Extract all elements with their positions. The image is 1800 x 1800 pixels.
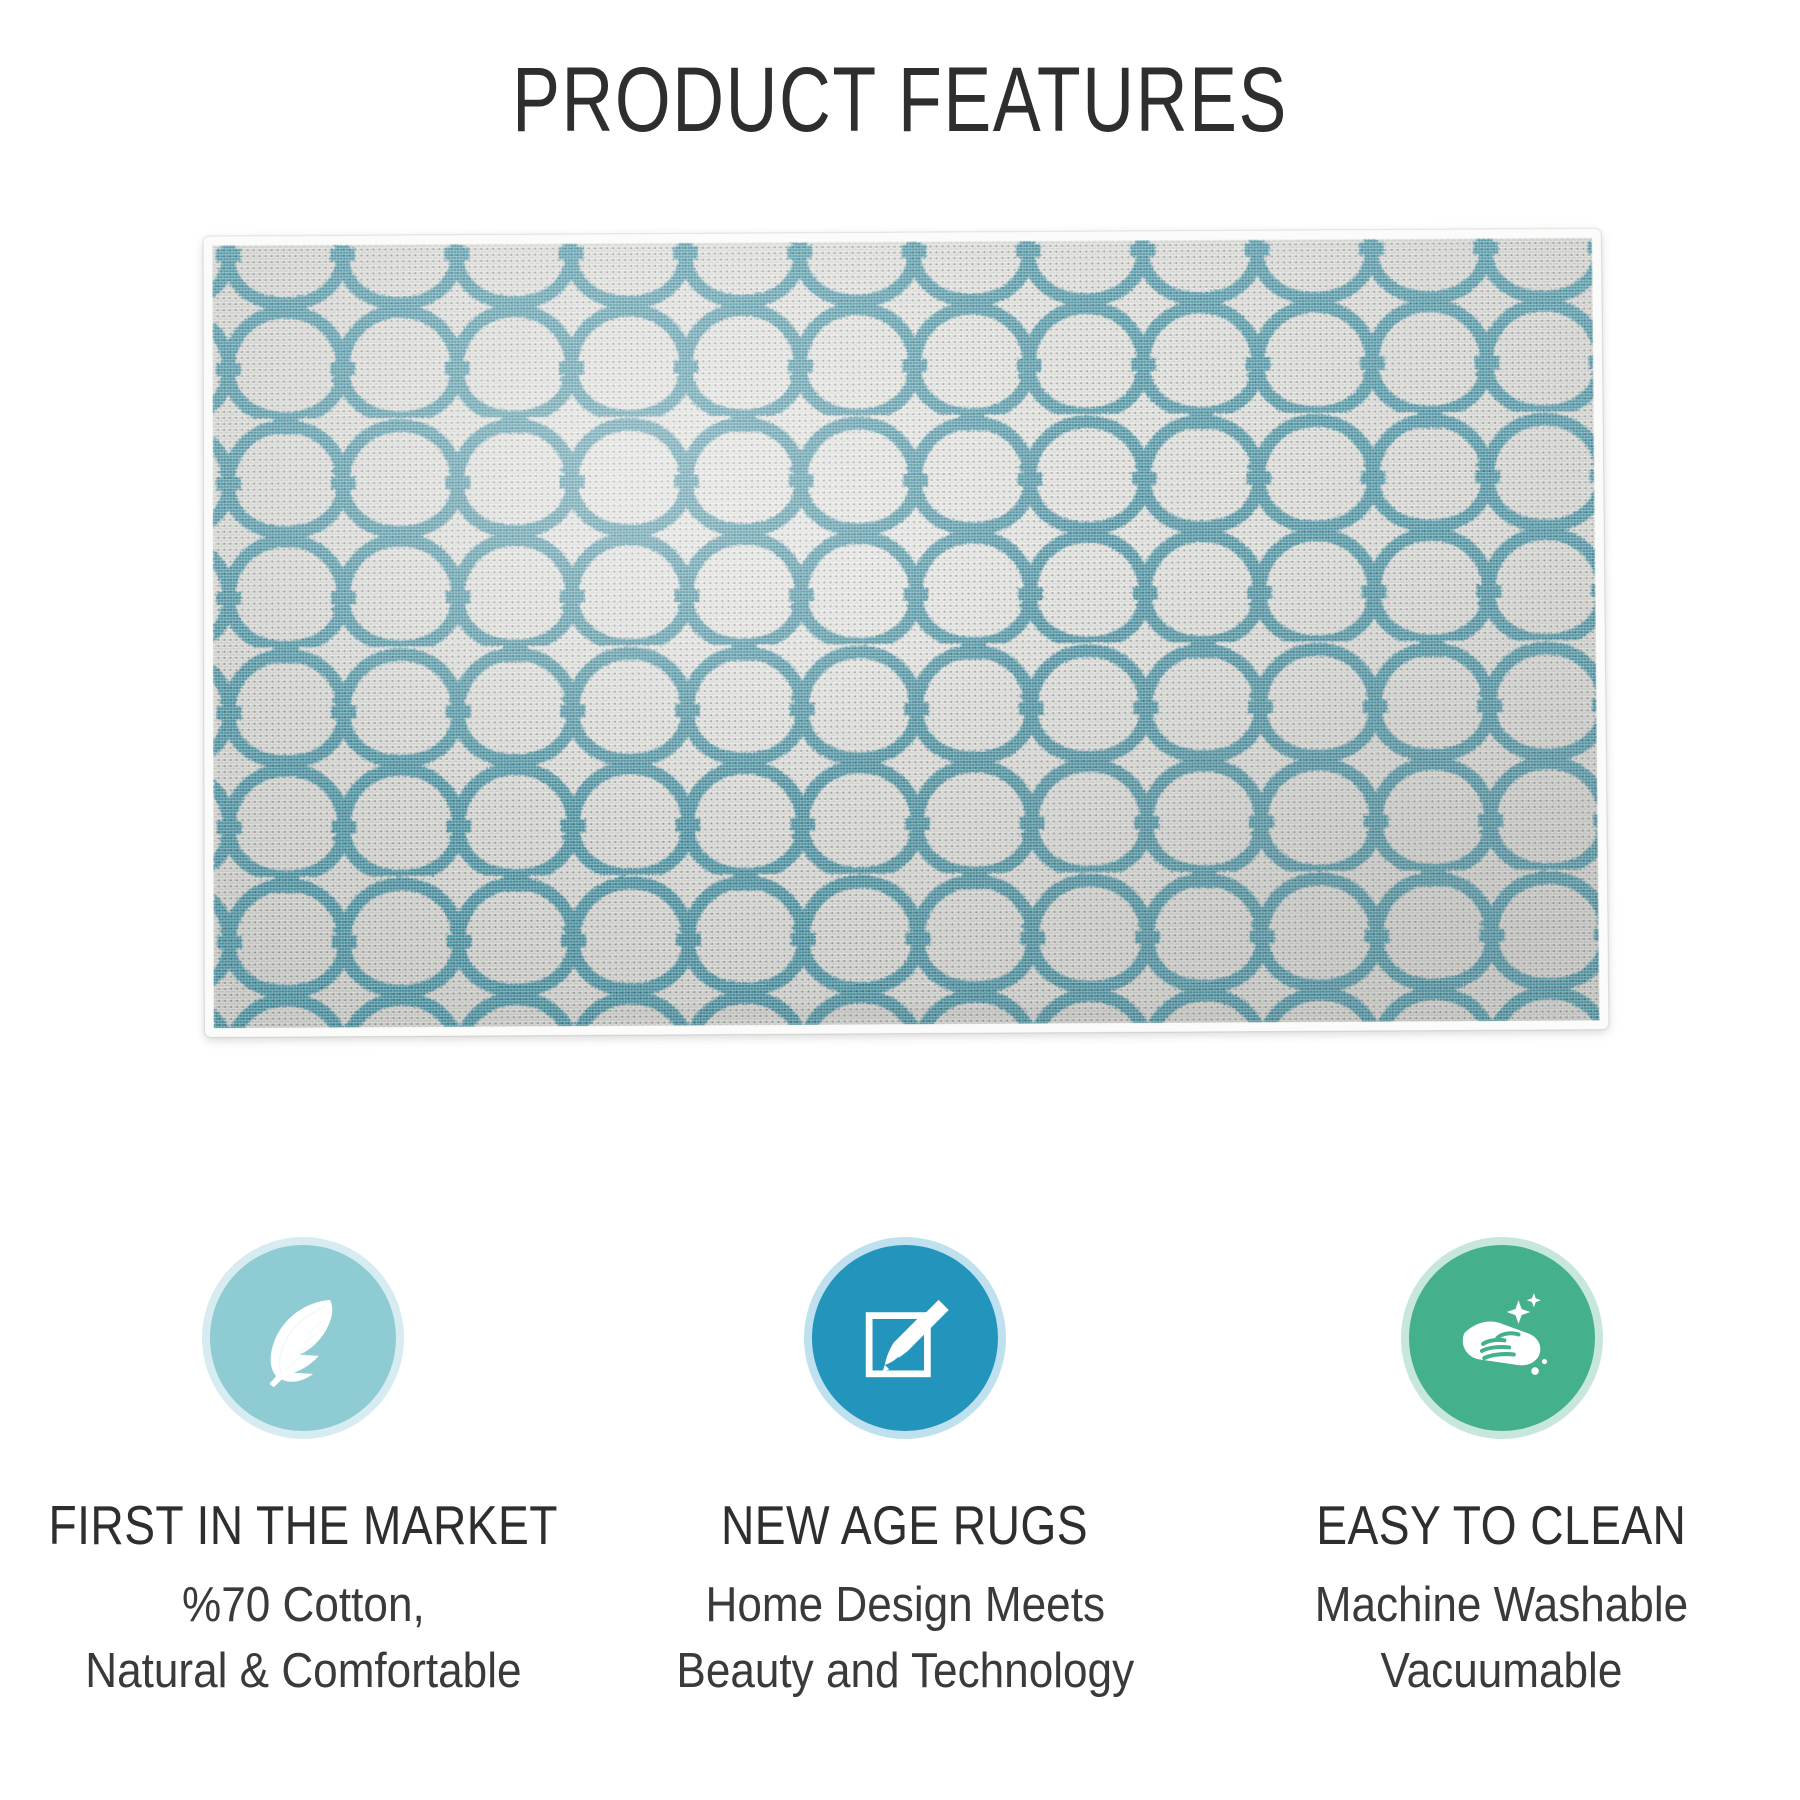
feature-title: NEW AGE RUGS xyxy=(721,1493,1088,1557)
feature-description: %70 Cotton, Natural & Comfortable xyxy=(61,1573,546,1704)
feature-line: Machine Washable xyxy=(1315,1573,1688,1639)
features-row: FIRST IN THE MARKET %70 Cotton, Natural … xyxy=(0,1245,1800,1704)
feature-description: Home Design Meets Beauty and Technology xyxy=(651,1573,1160,1704)
rug-drop-shadow xyxy=(232,1010,1576,1036)
hand-wipe-sparkle-icon xyxy=(1409,1245,1595,1431)
feature-title: FIRST IN THE MARKET xyxy=(49,1493,558,1557)
feather-icon xyxy=(210,1245,396,1431)
feature-title: EASY TO CLEAN xyxy=(1317,1493,1687,1557)
product-features-infographic: PRODUCT FEATURES xyxy=(0,0,1800,1800)
rug-surface xyxy=(212,238,1599,1028)
feature-line: %70 Cotton, xyxy=(85,1573,521,1639)
feature-line: Beauty and Technology xyxy=(676,1639,1134,1705)
feature-new-age-rugs: NEW AGE RUGS Home Design Meets Beauty an… xyxy=(606,1245,1203,1704)
feature-description: Machine Washable Vacuumable xyxy=(1294,1573,1709,1704)
feature-line: Natural & Comfortable xyxy=(85,1639,521,1705)
feature-line: Home Design Meets xyxy=(676,1573,1134,1639)
page-title: PRODUCT FEATURES xyxy=(198,48,1602,153)
feature-line: Vacuumable xyxy=(1315,1639,1688,1705)
product-image-container xyxy=(203,229,1608,1037)
feature-first-in-the-market: FIRST IN THE MARKET %70 Cotton, Natural … xyxy=(0,1245,606,1704)
rug-photo xyxy=(203,229,1608,1037)
feature-easy-to-clean: EASY TO CLEAN Machine Washable Vacuumabl… xyxy=(1203,1245,1800,1704)
design-pen-brush-icon xyxy=(812,1245,998,1431)
rug-pattern-lattice xyxy=(212,238,1599,1028)
